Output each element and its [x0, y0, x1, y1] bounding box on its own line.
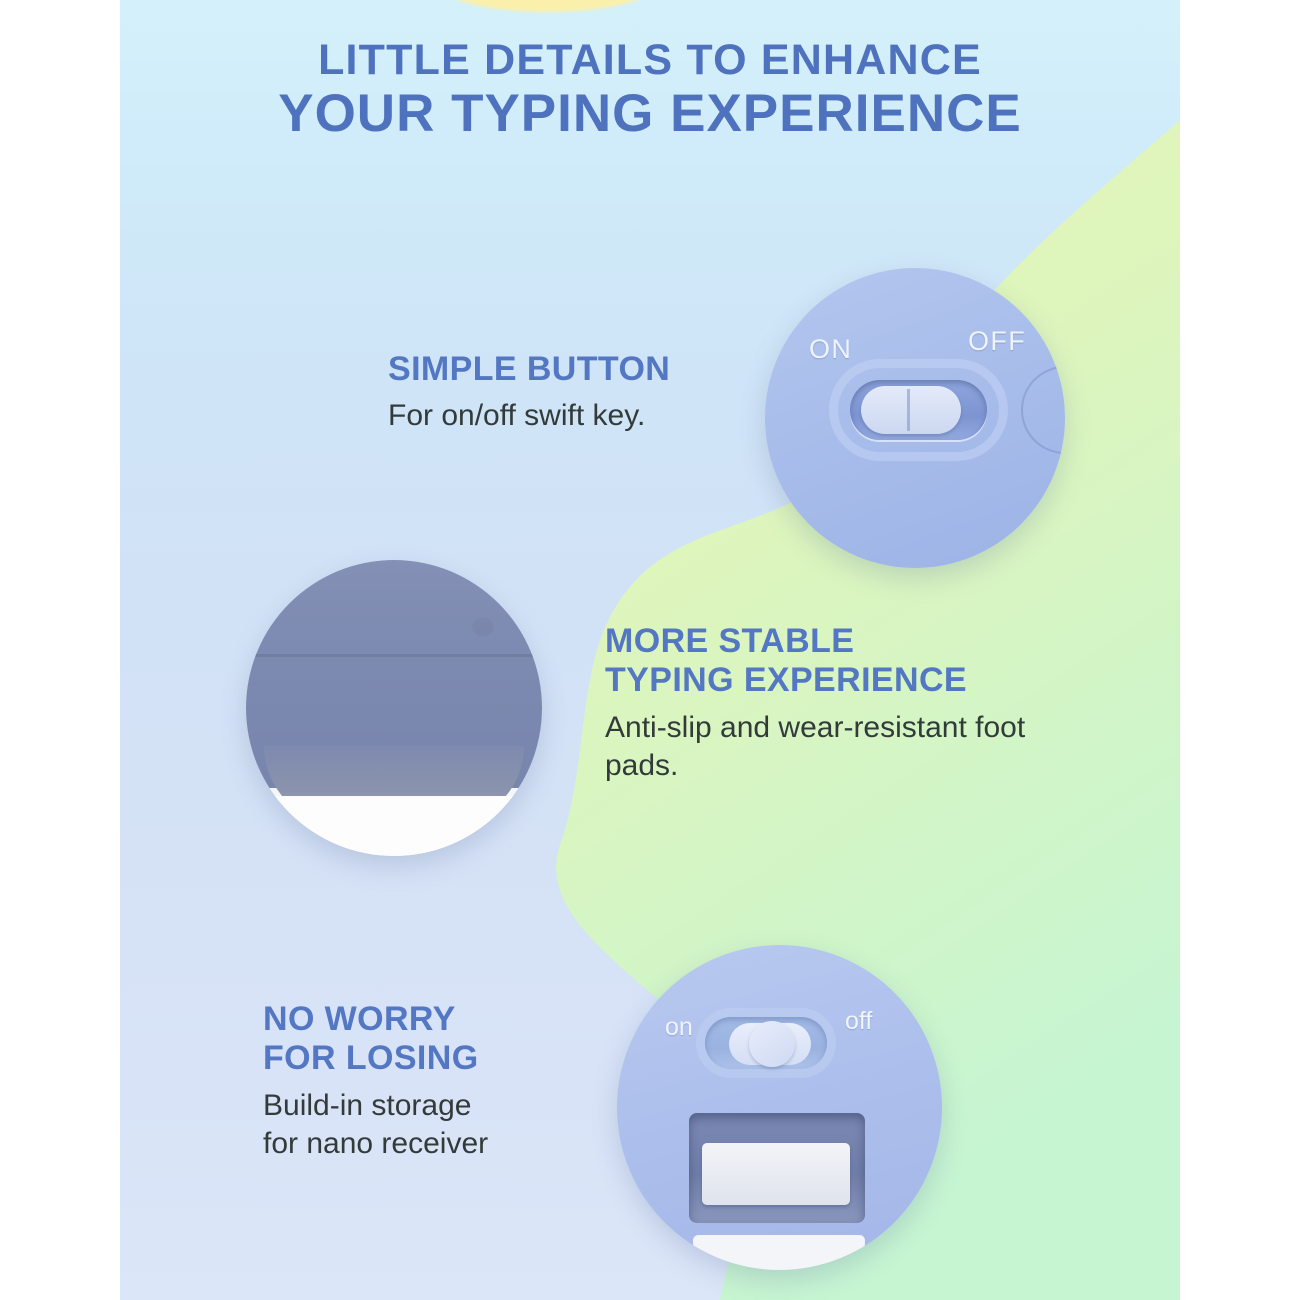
feature-title-no-worry: NO WORRY FOR LOSING: [263, 1000, 593, 1079]
switch-knob: [861, 386, 961, 434]
feature-title-more-stable-line-1: MORE STABLE: [605, 622, 854, 660]
feature-description-no-worry-line-1: Build-in storage: [263, 1089, 471, 1122]
storage-switch-label-on: on: [665, 1013, 693, 1042]
feature-more-stable: MORE STABLE TYPING EXPERIENCE Anti-slip …: [605, 622, 1075, 784]
storage-base-cover: [693, 1235, 865, 1270]
switch-label-on: ON: [809, 334, 852, 365]
feature-simple-button: SIMPLE BUTTON For on/off swift key.: [388, 350, 738, 435]
nano-receiver: [702, 1143, 850, 1205]
foot-pad-dot: [472, 618, 494, 636]
storage-switch-label-off: off: [845, 1007, 872, 1036]
feature-description-no-worry: Build-in storage for nano receiver: [263, 1087, 593, 1163]
feature-no-worry: NO WORRY FOR LOSING Build-in storage for…: [263, 1000, 593, 1162]
foot-pad-surface: [246, 796, 542, 856]
switch-label-off: OFF: [968, 326, 1026, 357]
headline-line-2: YOUR TYPING EXPERIENCE: [120, 86, 1180, 142]
feature-title-no-worry-line-2: FOR LOSING: [263, 1039, 479, 1077]
page-title: LITTLE DETAILS TO ENHANCE YOUR TYPING EX…: [120, 38, 1180, 142]
headline-line-1: LITTLE DETAILS TO ENHANCE: [120, 38, 1180, 84]
product-photo-onoff-switch: ON OFF: [765, 268, 1065, 568]
feature-description-no-worry-line-2: for nano receiver: [263, 1127, 488, 1160]
feature-description-more-stable: Anti-slip and wear-resistant foot pads.: [605, 709, 1075, 785]
foot-pad-seam: [246, 654, 542, 657]
product-photo-foot-pad: [246, 560, 542, 856]
feature-description-simple-button: For on/off swift key.: [388, 397, 738, 435]
product-photo-nano-storage: on off: [617, 945, 942, 1270]
feature-title-simple-button: SIMPLE BUTTON: [388, 350, 738, 389]
infographic-poster: LITTLE DETAILS TO ENHANCE YOUR TYPING EX…: [0, 0, 1300, 1300]
feature-title-more-stable: MORE STABLE TYPING EXPERIENCE: [605, 622, 1075, 701]
feature-title-more-stable-line-2: TYPING EXPERIENCE: [605, 661, 967, 699]
round-key-outline: [1021, 366, 1065, 454]
storage-switch-knob-dot: [749, 1021, 795, 1067]
feature-title-no-worry-line-1: NO WORRY: [263, 1000, 456, 1038]
